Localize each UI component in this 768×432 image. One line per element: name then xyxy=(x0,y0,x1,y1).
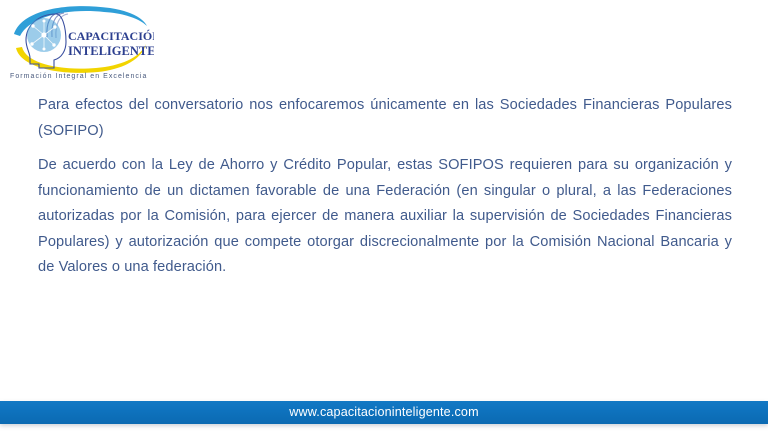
logo-tagline: Formación Integral en Excelencia xyxy=(10,73,148,80)
capacitacion-inteligente-logo: CAPACITACIÓN INTELIGENTE Formación Integ… xyxy=(6,4,154,82)
logo-graphic: CAPACITACIÓN INTELIGENTE Formación Integ… xyxy=(6,4,154,82)
logo-line1: CAPACITACIÓN xyxy=(68,29,154,43)
paragraph-1: Para efectos del conversatorio nos enfoc… xyxy=(38,93,732,144)
footer-bar: www.capacitacioninteligente.com xyxy=(0,401,768,424)
slide-canvas: CAPACITACIÓN INTELIGENTE Formación Integ… xyxy=(0,0,768,432)
logo-line2: INTELIGENTE xyxy=(68,44,154,58)
paragraph-2: De acuerdo con la Ley de Ahorro y Crédit… xyxy=(38,153,732,281)
slide-body: Para efectos del conversatorio nos enfoc… xyxy=(38,93,732,281)
footer-website-url[interactable]: www.capacitacioninteligente.com xyxy=(289,406,478,419)
